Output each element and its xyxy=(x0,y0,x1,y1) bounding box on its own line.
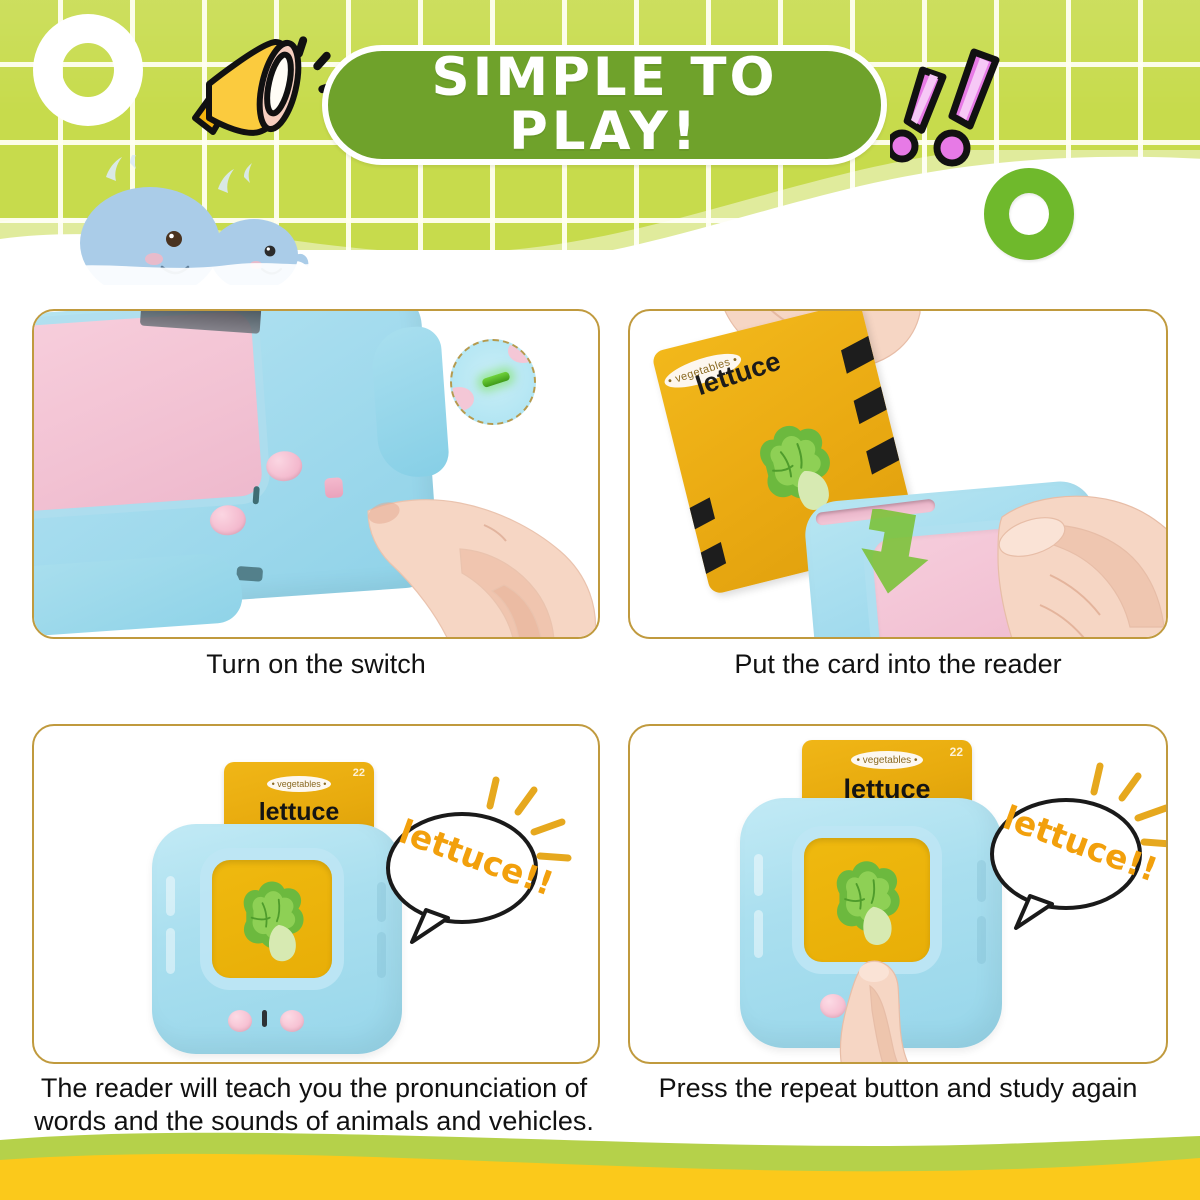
step-3-panel: 22 • vegetables • lettuce xyxy=(32,724,600,1064)
device-rib-right-2 xyxy=(977,916,986,964)
step-2-panel: • vegetables • lettuce xyxy=(628,309,1168,639)
whale-decoration-icon xyxy=(58,155,318,285)
device-rib-left-2 xyxy=(754,910,763,958)
step-4-caption: Press the repeat button and study again xyxy=(622,1072,1174,1105)
step-1-panel xyxy=(32,309,600,639)
megaphone-icon xyxy=(175,22,340,162)
speech-bubble: lettuce!! xyxy=(986,762,1168,932)
inset-button-highlight-2 xyxy=(450,387,474,411)
infographic-page: SIMPLE TO PLAY! xyxy=(0,0,1200,1200)
device-speaker-slot xyxy=(262,1010,267,1027)
speech-bubble: lettuce!! xyxy=(382,776,572,946)
step-1-frame xyxy=(32,309,600,639)
card-barcode-stripes-left xyxy=(683,499,743,595)
page-title-line-1: SIMPLE TO xyxy=(431,51,777,105)
step-4-panel: 22 • vegetables • lettuce xyxy=(628,724,1168,1064)
device-rib-right-1 xyxy=(977,860,986,902)
step-4-frame: 22 • vegetables • lettuce xyxy=(628,724,1168,1064)
page-title-line-2: PLAY! xyxy=(431,105,777,159)
device-speaker-slot xyxy=(253,486,260,504)
card-word-label: lettuce xyxy=(692,326,844,402)
device-rib-left-1 xyxy=(166,876,175,916)
green-switch-indicator xyxy=(481,371,510,388)
card-number: 22 xyxy=(950,745,963,759)
page-title-banner: SIMPLE TO PLAY! xyxy=(322,45,887,165)
reader-device-front xyxy=(152,824,402,1054)
hand-holding-reader xyxy=(980,471,1168,639)
power-switch xyxy=(324,477,343,498)
step-3-frame: 22 • vegetables • lettuce xyxy=(32,724,600,1064)
steps-grid: Turn on the switch • vegetables • xyxy=(0,300,1200,1150)
pointing-finger-illustration xyxy=(828,952,978,1064)
page-title: SIMPLE TO PLAY! xyxy=(431,51,777,159)
device-rib-left-1 xyxy=(754,854,763,896)
device-button-b xyxy=(209,504,247,536)
lettuce-illustration-icon xyxy=(222,869,323,968)
card-number: 22 xyxy=(353,767,365,779)
card-word-label: lettuce xyxy=(224,798,374,827)
white-ring-decoration xyxy=(33,14,143,126)
footer-wave-bands xyxy=(0,1110,1200,1200)
double-exclamation-icon xyxy=(890,48,1025,178)
device-rib-left-2 xyxy=(166,928,175,974)
device-screen-showing-lettuce xyxy=(804,838,930,962)
pointing-finger-illustration xyxy=(364,489,600,639)
device-button-left[interactable] xyxy=(228,1010,252,1032)
card-category-badge: • vegetables • xyxy=(851,751,923,769)
usb-port xyxy=(236,566,263,582)
switch-zoom-inset xyxy=(450,339,536,425)
inset-button-highlight-1 xyxy=(508,339,536,363)
header-banner: SIMPLE TO PLAY! xyxy=(0,0,1200,285)
insert-direction-arrow-icon xyxy=(855,509,965,604)
card-category-badge: • vegetables • xyxy=(267,776,331,792)
step-2-caption: Put the card into the reader xyxy=(628,648,1168,681)
step-1-caption: Turn on the switch xyxy=(32,648,600,681)
device-button-a xyxy=(265,450,303,482)
device-screen-showing-lettuce xyxy=(212,860,332,978)
green-ring-decoration xyxy=(984,168,1074,260)
lettuce-illustration-icon xyxy=(814,848,920,952)
step-2-frame: • vegetables • lettuce xyxy=(628,309,1168,639)
device-repeat-button[interactable] xyxy=(280,1010,304,1032)
device-screen-empty xyxy=(32,310,263,512)
